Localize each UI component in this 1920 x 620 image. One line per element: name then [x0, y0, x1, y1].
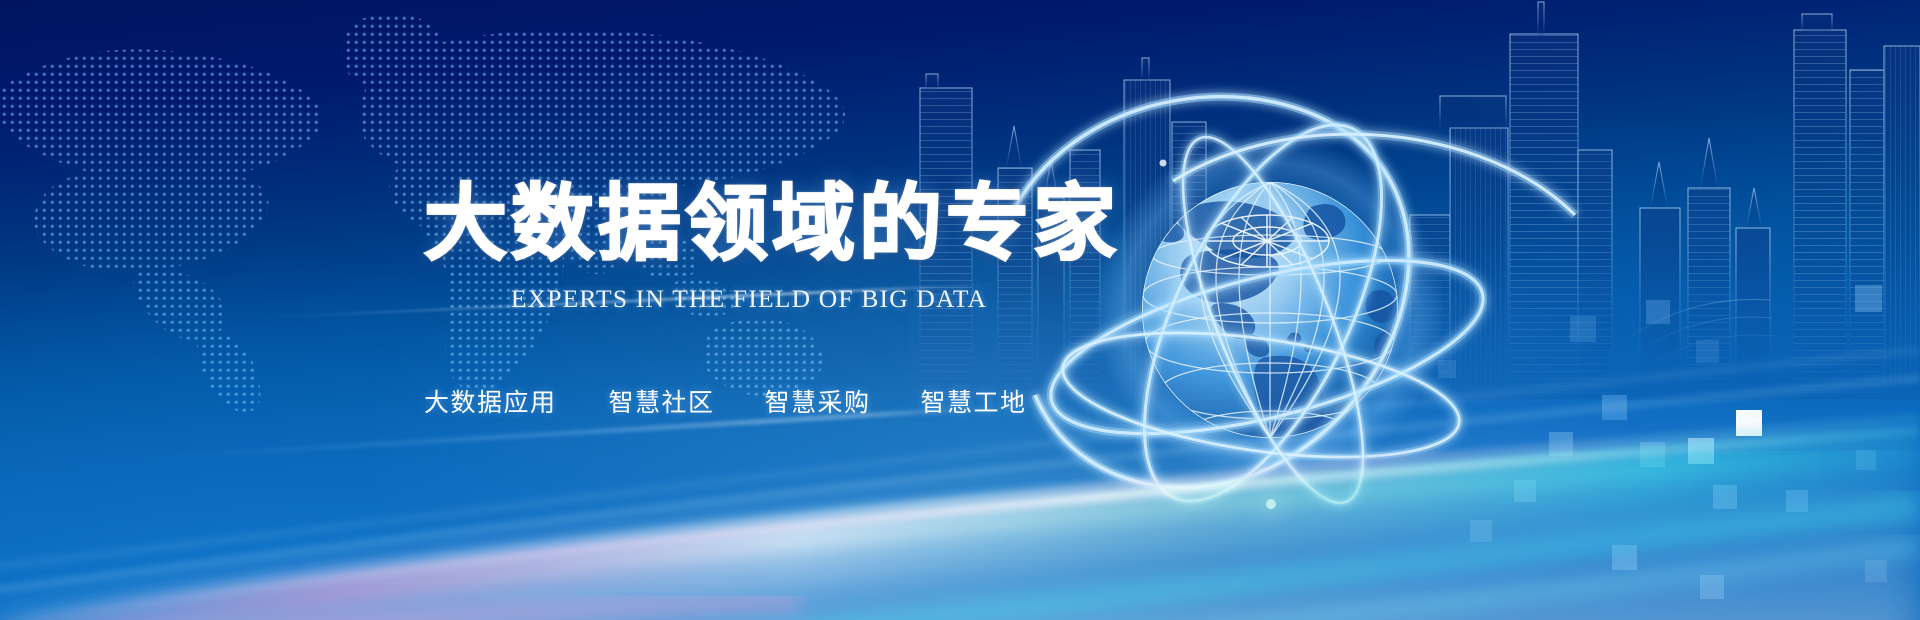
floating-square-5 [1736, 410, 1762, 436]
nav-item-2[interactable]: 智慧采购 [765, 383, 871, 419]
floating-square-2 [1696, 340, 1719, 363]
hero-text-block: 大数据领域的专家 EXPERTS IN THE FIELD OF BIG DAT… [0, 0, 1130, 620]
floating-square-10 [1713, 485, 1737, 509]
hero-nav[interactable]: 大数据应用智慧社区智慧采购智慧工地 [424, 383, 1104, 419]
nav-item-1[interactable]: 智慧社区 [609, 383, 715, 419]
nav-item-0[interactable]: 大数据应用 [424, 383, 557, 419]
floating-square-11 [1786, 490, 1808, 512]
page-subtitle: EXPERTS IN THE FIELD OF BIG DATA [424, 284, 1074, 314]
page-title: 大数据领域的专家 [424, 182, 1120, 265]
floating-square-14 [1612, 545, 1637, 570]
floating-square-7 [1640, 442, 1665, 467]
floating-square-4 [1602, 395, 1627, 420]
background-glow-right [1000, 120, 1920, 620]
globe-network-icon [1055, 95, 1485, 525]
floating-square-0 [1646, 300, 1670, 324]
big-data-hero-banner: 大数据领域的专家 EXPERTS IN THE FIELD OF BIG DAT… [0, 0, 1920, 620]
floating-square-3 [1855, 285, 1882, 312]
aurora-light-sweep-icon [0, 330, 1920, 620]
floating-square-9 [1514, 480, 1536, 502]
floating-square-13 [1470, 520, 1492, 542]
floating-square-8 [1688, 438, 1714, 464]
floating-square-1 [1570, 316, 1596, 342]
floating-square-12 [1856, 450, 1876, 470]
floating-square-16 [1865, 560, 1887, 582]
floating-square-17 [1438, 360, 1456, 378]
floating-square-6 [1549, 432, 1573, 456]
floating-square-15 [1700, 575, 1724, 599]
nav-item-3[interactable]: 智慧工地 [921, 383, 1027, 419]
